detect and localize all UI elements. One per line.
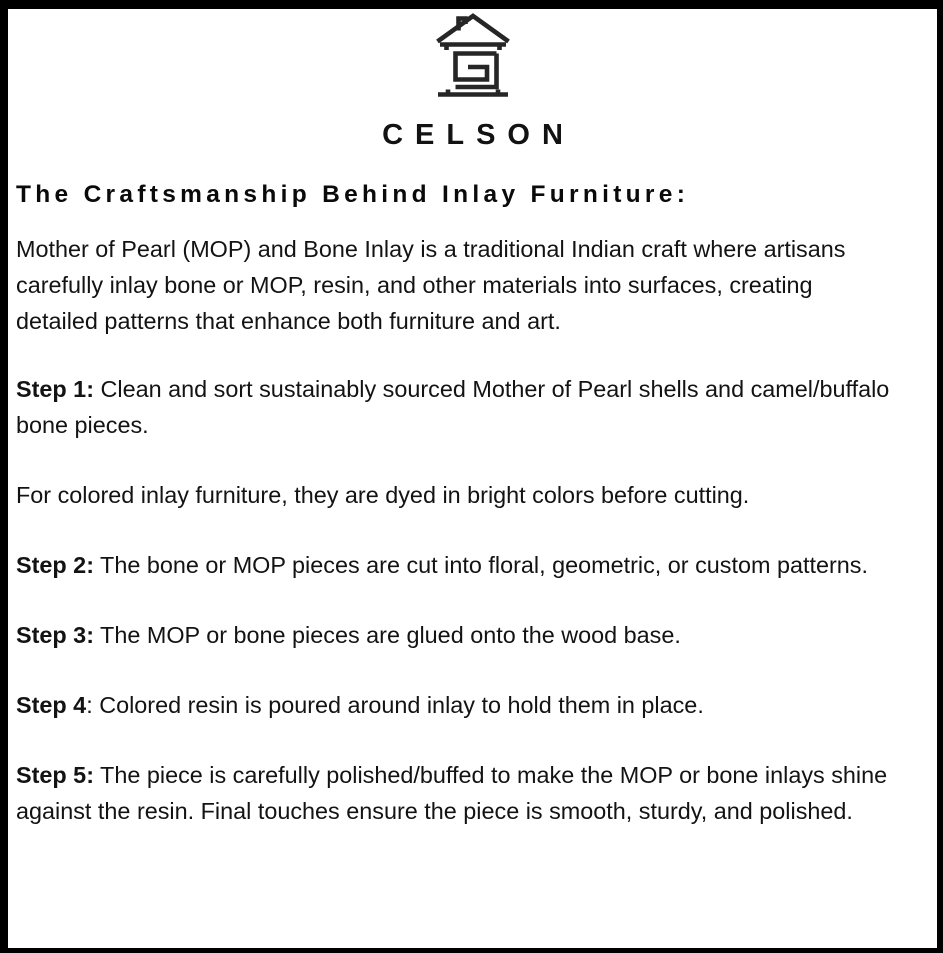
brand-wordmark: CELSON [16, 121, 929, 150]
step-paragraph: Step 5: The piece is carefully polished/… [16, 757, 900, 829]
step-paragraph: Step 1: Clean and sort sustainably sourc… [16, 371, 900, 443]
step-text: : Colored resin is poured around inlay t… [86, 692, 704, 718]
step-label: Step 5: [16, 762, 94, 788]
step-paragraph: Step 2: The bone or MOP pieces are cut i… [16, 547, 900, 583]
step-text: Clean and sort sustainably sourced Mothe… [16, 376, 889, 438]
step-label: Step 2: [16, 552, 94, 578]
step-text: The bone or MOP pieces are cut into flor… [94, 552, 868, 578]
step-paragraph: For colored inlay furniture, they are dy… [16, 477, 900, 513]
house-monogram-logo-icon [435, 13, 511, 107]
step-paragraph: Step 3: The MOP or bone pieces are glued… [16, 617, 900, 653]
step-label: Step 1: [16, 376, 94, 402]
step-text: The piece is carefully polished/buffed t… [16, 762, 887, 824]
body-content: Mother of Pearl (MOP) and Bone Inlay is … [16, 231, 929, 829]
step-label: Step 4 [16, 692, 86, 718]
poster-frame: CELSON The Craftsmanship Behind Inlay Fu… [0, 0, 943, 953]
intro-paragraph: Mother of Pearl (MOP) and Bone Inlay is … [16, 231, 900, 339]
brand-header: CELSON [16, 9, 929, 150]
steps-list: Step 1: Clean and sort sustainably sourc… [16, 371, 929, 829]
step-paragraph: Step 4: Colored resin is poured around i… [16, 687, 900, 723]
step-text: For colored inlay furniture, they are dy… [16, 482, 749, 508]
step-text: The MOP or bone pieces are glued onto th… [94, 622, 681, 648]
page-title: The Craftsmanship Behind Inlay Furniture… [16, 182, 929, 209]
poster-inner: CELSON The Craftsmanship Behind Inlay Fu… [8, 9, 937, 948]
step-label: Step 3: [16, 622, 94, 648]
